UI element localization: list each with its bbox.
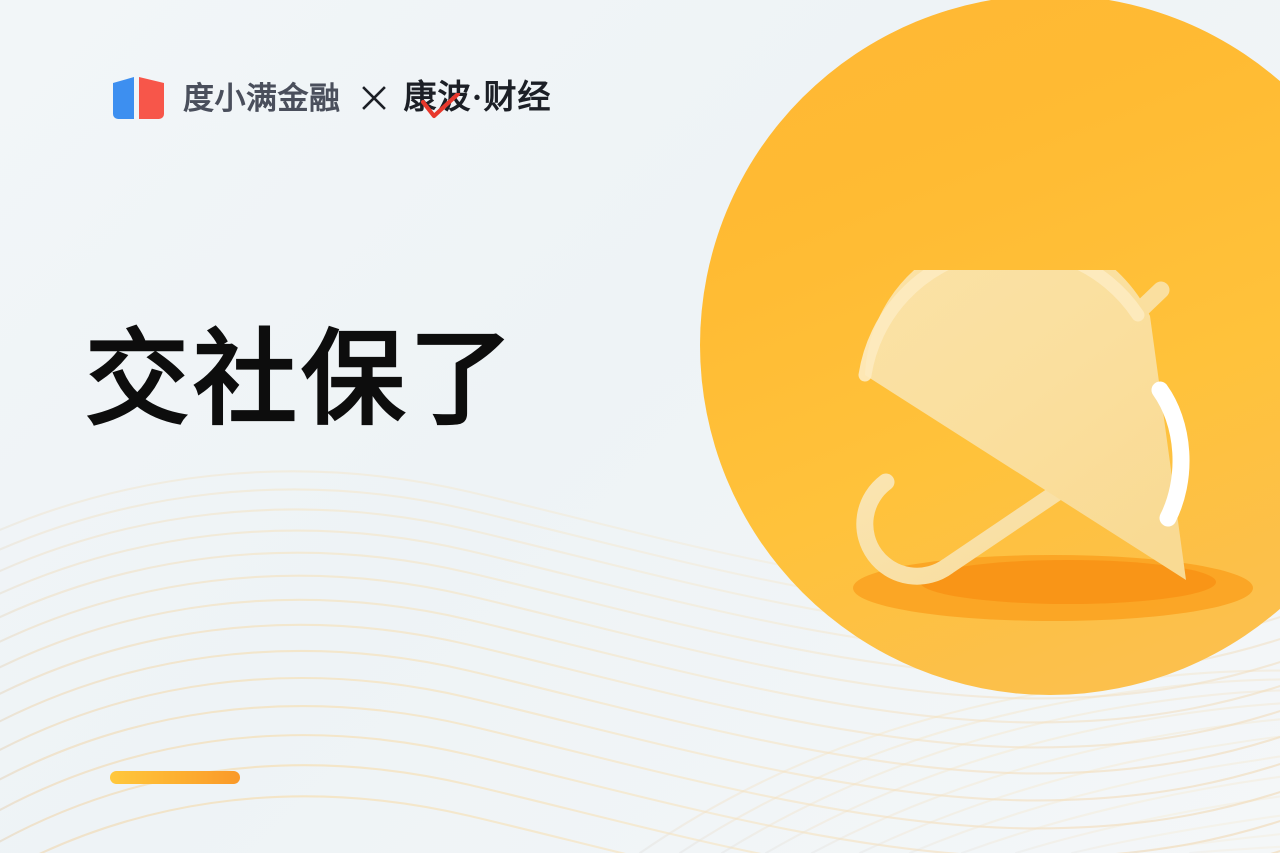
secondary-brand-block: 康波·财经 <box>404 75 552 121</box>
logo-lockup: 度小满金融 康波·财经 <box>108 70 552 126</box>
page-title: 交社保了 <box>85 322 517 438</box>
duxiaoman-book-mark-icon <box>108 75 170 121</box>
umbrella-canopy <box>865 270 1186 580</box>
accent-bar <box>110 771 240 784</box>
red-checkmark-icon <box>421 93 461 119</box>
cross-separator-icon <box>361 85 387 111</box>
umbrella-illustration <box>838 270 1268 640</box>
poster-canvas: 度小满金融 康波·财经 交社保了 <box>0 0 1280 853</box>
primary-brand-name: 度小满金融 <box>183 83 341 114</box>
